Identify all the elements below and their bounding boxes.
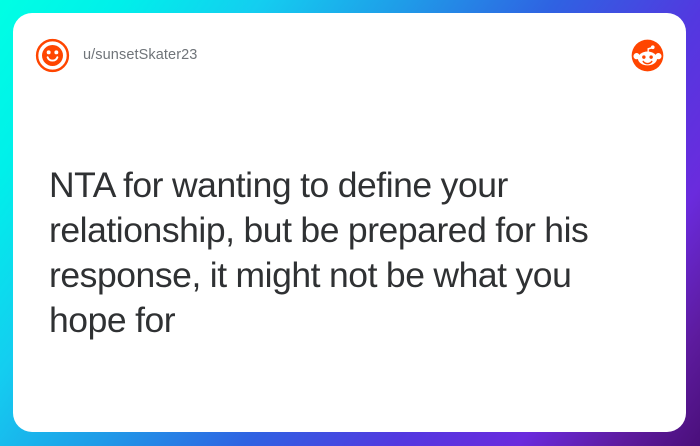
- card-body: NTA for wanting to define your relations…: [49, 163, 640, 343]
- username-label: u/sunsetSkater23: [83, 48, 197, 63]
- post-text: NTA for wanting to define your relations…: [49, 163, 640, 343]
- reddit-snoo-logo-icon[interactable]: [631, 39, 664, 72]
- smiley-face-avatar-icon[interactable]: [35, 38, 70, 73]
- screenshot-root: u/sunsetSkater23: [0, 0, 700, 446]
- reddit-post-card: u/sunsetSkater23: [13, 13, 686, 432]
- card-header: u/sunsetSkater23: [35, 34, 664, 76]
